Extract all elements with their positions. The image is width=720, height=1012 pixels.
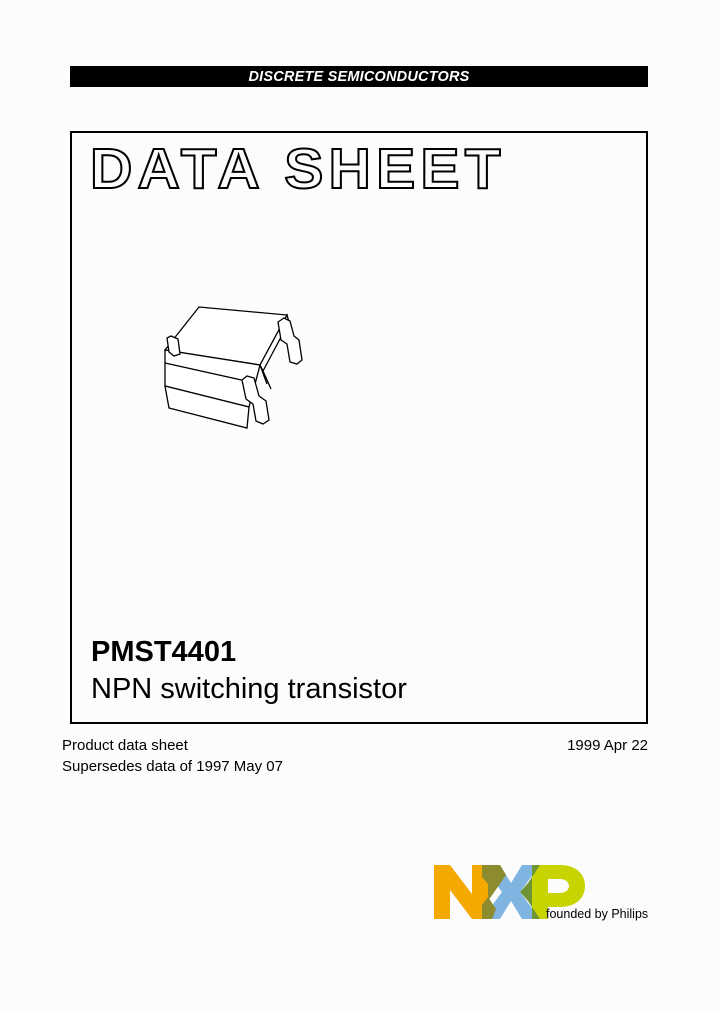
supersedes-label: Supersedes data of 1997 May 07 [62,756,283,777]
document-meta: Product data sheet 1999 Apr 22 Supersede… [62,735,648,781]
doc-type-label: Product data sheet [62,735,188,756]
part-description: NPN switching transistor [91,673,407,706]
cover-content-box: DATA SHEET [70,131,648,724]
meta-row-type: Product data sheet 1999 Apr 22 [62,735,648,756]
nxp-tagline: founded by Philips [546,907,648,921]
banner-title: DISCRETE SEMICONDUCTORS [248,69,469,85]
sot23-package-drawing [147,288,337,468]
data-sheet-title: DATA SHEET [90,141,506,198]
doc-date: 1999 Apr 22 [567,735,648,756]
meta-row-supersedes: Supersedes data of 1997 May 07 [62,756,648,777]
nxp-logo: founded by Philips [432,857,652,937]
discrete-semiconductors-banner: DISCRETE SEMICONDUCTORS [70,66,648,87]
logo-letter-n [434,865,488,919]
part-number: PMST4401 [91,636,236,669]
